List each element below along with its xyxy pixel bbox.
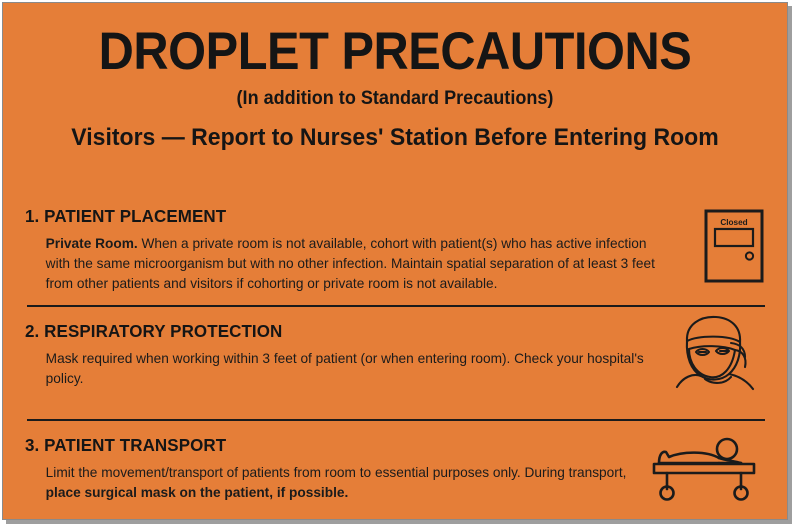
section-3-heading: 3. PATIENT TRANSPORT — [25, 435, 745, 456]
section-1-body-text: When a private room is not available, co… — [46, 235, 655, 290]
patient-gurney-icon — [649, 433, 765, 506]
section-1-body-lead: Private Room. — [46, 235, 138, 251]
masked-face-icon — [661, 313, 765, 396]
section-2-body: Mask required when working within 3 feet… — [25, 349, 661, 388]
closed-door-icon: Closed — [703, 208, 765, 289]
section-1-heading: 1. PATIENT PLACEMENT — [25, 206, 745, 227]
section-3-body-text: Limit the movement/transport of patients… — [46, 464, 627, 480]
section-2-body-text: Mask required when working within 3 feet… — [46, 350, 644, 386]
sign-sections: 1. PATIENT PLACEMENT Private Room. When … — [3, 196, 787, 520]
section-3-body: Limit the movement/transport of patients… — [25, 463, 661, 502]
sign-subtitle: (In addition to Standard Precautions) — [23, 88, 768, 110]
section-2-heading: 2. RESPIRATORY PROTECTION — [25, 321, 745, 342]
section-1-body: Private Room. When a private room is not… — [25, 234, 661, 293]
sign-header: DROPLET PRECAUTIONS (In addition to Stan… — [3, 3, 787, 152]
section-patient-transport: 3. PATIENT TRANSPORT Limit the movement/… — [3, 421, 787, 520]
section-patient-placement: 1. PATIENT PLACEMENT Private Room. When … — [3, 196, 787, 305]
section-respiratory-protection: 2. RESPIRATORY PROTECTION Mask required … — [3, 307, 787, 419]
sign-face: DROPLET PRECAUTIONS (In addition to Stan… — [2, 2, 788, 520]
visitors-instruction: Visitors — Report to Nurses' Station Bef… — [27, 124, 764, 152]
droplet-precautions-sign: DROPLET PRECAUTIONS (In addition to Stan… — [0, 0, 800, 530]
door-sign-label: Closed — [720, 218, 747, 227]
section-3-body-emphasis: place surgical mask on the patient, if p… — [46, 484, 349, 500]
page-title: DROPLET PRECAUTIONS — [34, 25, 755, 79]
